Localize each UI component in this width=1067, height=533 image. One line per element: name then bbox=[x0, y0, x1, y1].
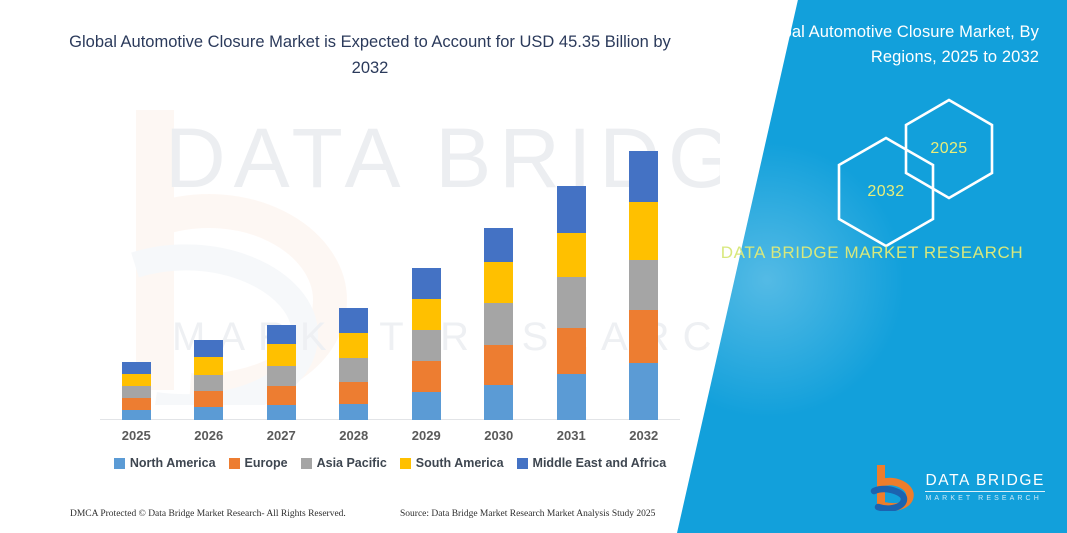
bar-segment-europe bbox=[412, 361, 441, 392]
bar-column bbox=[250, 325, 312, 420]
bar-segment-asia-pacific bbox=[629, 260, 658, 310]
legend-item-europe[interactable]: Europe bbox=[229, 456, 288, 470]
chart-legend: North AmericaEuropeAsia PacificSouth Ame… bbox=[100, 456, 680, 470]
bar-segment-asia-pacific bbox=[412, 330, 441, 361]
bar-segment-europe bbox=[557, 328, 586, 374]
bar-segment-north-america bbox=[122, 410, 151, 420]
bar-segment-north-america bbox=[339, 404, 368, 420]
chart-area: Global Automotive Closure Market is Expe… bbox=[0, 0, 720, 533]
bar-segment-middle-east-and-africa bbox=[267, 325, 296, 344]
bar-segment-asia-pacific bbox=[267, 366, 296, 386]
bar-segment-europe bbox=[629, 310, 658, 363]
bar-segment-europe bbox=[122, 398, 151, 410]
x-axis-label-2025: 2025 bbox=[105, 428, 167, 443]
page-title: Global Automotive Closure Market is Expe… bbox=[60, 30, 680, 81]
dbmr-logo-mark-icon bbox=[870, 465, 916, 511]
bar-segment-asia-pacific bbox=[557, 277, 586, 328]
footer-source: Source: Data Bridge Market Research Mark… bbox=[400, 509, 655, 519]
bar-column bbox=[540, 186, 602, 420]
x-axis-label-2028: 2028 bbox=[323, 428, 385, 443]
legend-item-asia-pacific[interactable]: Asia Pacific bbox=[301, 456, 387, 470]
bar-segment-south-america bbox=[267, 344, 296, 366]
legend-swatch-icon bbox=[517, 458, 528, 469]
bar-segment-europe bbox=[339, 382, 368, 404]
x-axis-label-2029: 2029 bbox=[395, 428, 457, 443]
bar-segment-middle-east-and-africa bbox=[484, 228, 513, 262]
bar-column bbox=[395, 268, 457, 420]
bar-column bbox=[105, 362, 167, 420]
legend-swatch-icon bbox=[229, 458, 240, 469]
stacked-bar bbox=[267, 325, 296, 420]
hexagon-label-2032: 2032 bbox=[867, 183, 904, 201]
legend-label: Europe bbox=[245, 456, 288, 470]
dbmr-logo-line1: DATA BRIDGE bbox=[925, 473, 1045, 492]
panel-title: Global Automotive Closure Market, By Reg… bbox=[729, 20, 1039, 70]
bar-column bbox=[323, 308, 385, 420]
bar-segment-south-america bbox=[557, 233, 586, 277]
bar-segment-middle-east-and-africa bbox=[339, 308, 368, 333]
bar-segment-asia-pacific bbox=[339, 358, 368, 382]
dbmr-logo-text: DATA BRIDGE MARKET RESEARCH bbox=[925, 473, 1045, 503]
bar-segment-middle-east-and-africa bbox=[122, 362, 151, 374]
hexagon-label-2025: 2025 bbox=[930, 140, 967, 158]
legend-label: South America bbox=[416, 456, 504, 470]
legend-label: Asia Pacific bbox=[317, 456, 387, 470]
x-axis-labels: 20252026202720282029203020312032 bbox=[100, 428, 680, 443]
legend-swatch-icon bbox=[114, 458, 125, 469]
bar-column bbox=[178, 340, 240, 420]
legend-label: Middle East and Africa bbox=[533, 456, 667, 470]
bar-segment-south-america bbox=[412, 299, 441, 330]
legend-item-middle-east-and-africa[interactable]: Middle East and Africa bbox=[517, 456, 667, 470]
hexagon-badges: 2032 2025 bbox=[0, 96, 1067, 216]
bar-segment-north-america bbox=[629, 363, 658, 420]
footer-copyright: DMCA Protected © Data Bridge Market Rese… bbox=[70, 509, 346, 519]
hexagon-badge-2025: 2025 bbox=[901, 96, 997, 202]
bar-segment-south-america bbox=[194, 357, 223, 375]
dbmr-logo-line2: MARKET RESEARCH bbox=[925, 495, 1045, 502]
bar-segment-asia-pacific bbox=[122, 386, 151, 398]
x-axis-label-2027: 2027 bbox=[250, 428, 312, 443]
bar-segment-north-america bbox=[267, 405, 296, 420]
bar-segment-north-america bbox=[412, 392, 441, 420]
bar-column bbox=[468, 228, 530, 420]
legend-swatch-icon bbox=[301, 458, 312, 469]
stacked-bar bbox=[484, 228, 513, 420]
infographic-root: Global Automotive Closure Market is Expe… bbox=[0, 0, 1067, 533]
legend-label: North America bbox=[130, 456, 216, 470]
x-axis-label-2030: 2030 bbox=[468, 428, 530, 443]
bar-segment-north-america bbox=[484, 385, 513, 420]
bar-segment-europe bbox=[194, 391, 223, 407]
bar-segment-south-america bbox=[122, 374, 151, 386]
legend-swatch-icon bbox=[400, 458, 411, 469]
bar-segment-asia-pacific bbox=[194, 375, 223, 391]
right-panel bbox=[677, 0, 1067, 533]
legend-item-south-america[interactable]: South America bbox=[400, 456, 504, 470]
bar-segment-south-america bbox=[484, 262, 513, 303]
stacked-bar bbox=[557, 186, 586, 420]
legend-item-north-america[interactable]: North America bbox=[114, 456, 216, 470]
bar-segment-south-america bbox=[339, 333, 368, 358]
stacked-bar bbox=[412, 268, 441, 420]
x-axis-label-2026: 2026 bbox=[178, 428, 240, 443]
bar-segment-middle-east-and-africa bbox=[412, 268, 441, 299]
x-axis-label-2031: 2031 bbox=[540, 428, 602, 443]
stacked-bar bbox=[339, 308, 368, 420]
bar-segment-north-america bbox=[557, 374, 586, 420]
bar-segment-asia-pacific bbox=[484, 303, 513, 345]
bar-segment-middle-east-and-africa bbox=[194, 340, 223, 357]
x-axis-label-2032: 2032 bbox=[613, 428, 675, 443]
bar-segment-north-america bbox=[194, 407, 223, 420]
bar-segment-europe bbox=[484, 345, 513, 385]
bar-segment-europe bbox=[267, 386, 296, 405]
dbmr-logo: DATA BRIDGE MARKET RESEARCH bbox=[870, 465, 1045, 511]
brand-wordmark: DATA BRIDGE MARKET RESEARCH bbox=[677, 240, 1067, 266]
stacked-bar bbox=[194, 340, 223, 420]
stacked-bar bbox=[122, 362, 151, 420]
